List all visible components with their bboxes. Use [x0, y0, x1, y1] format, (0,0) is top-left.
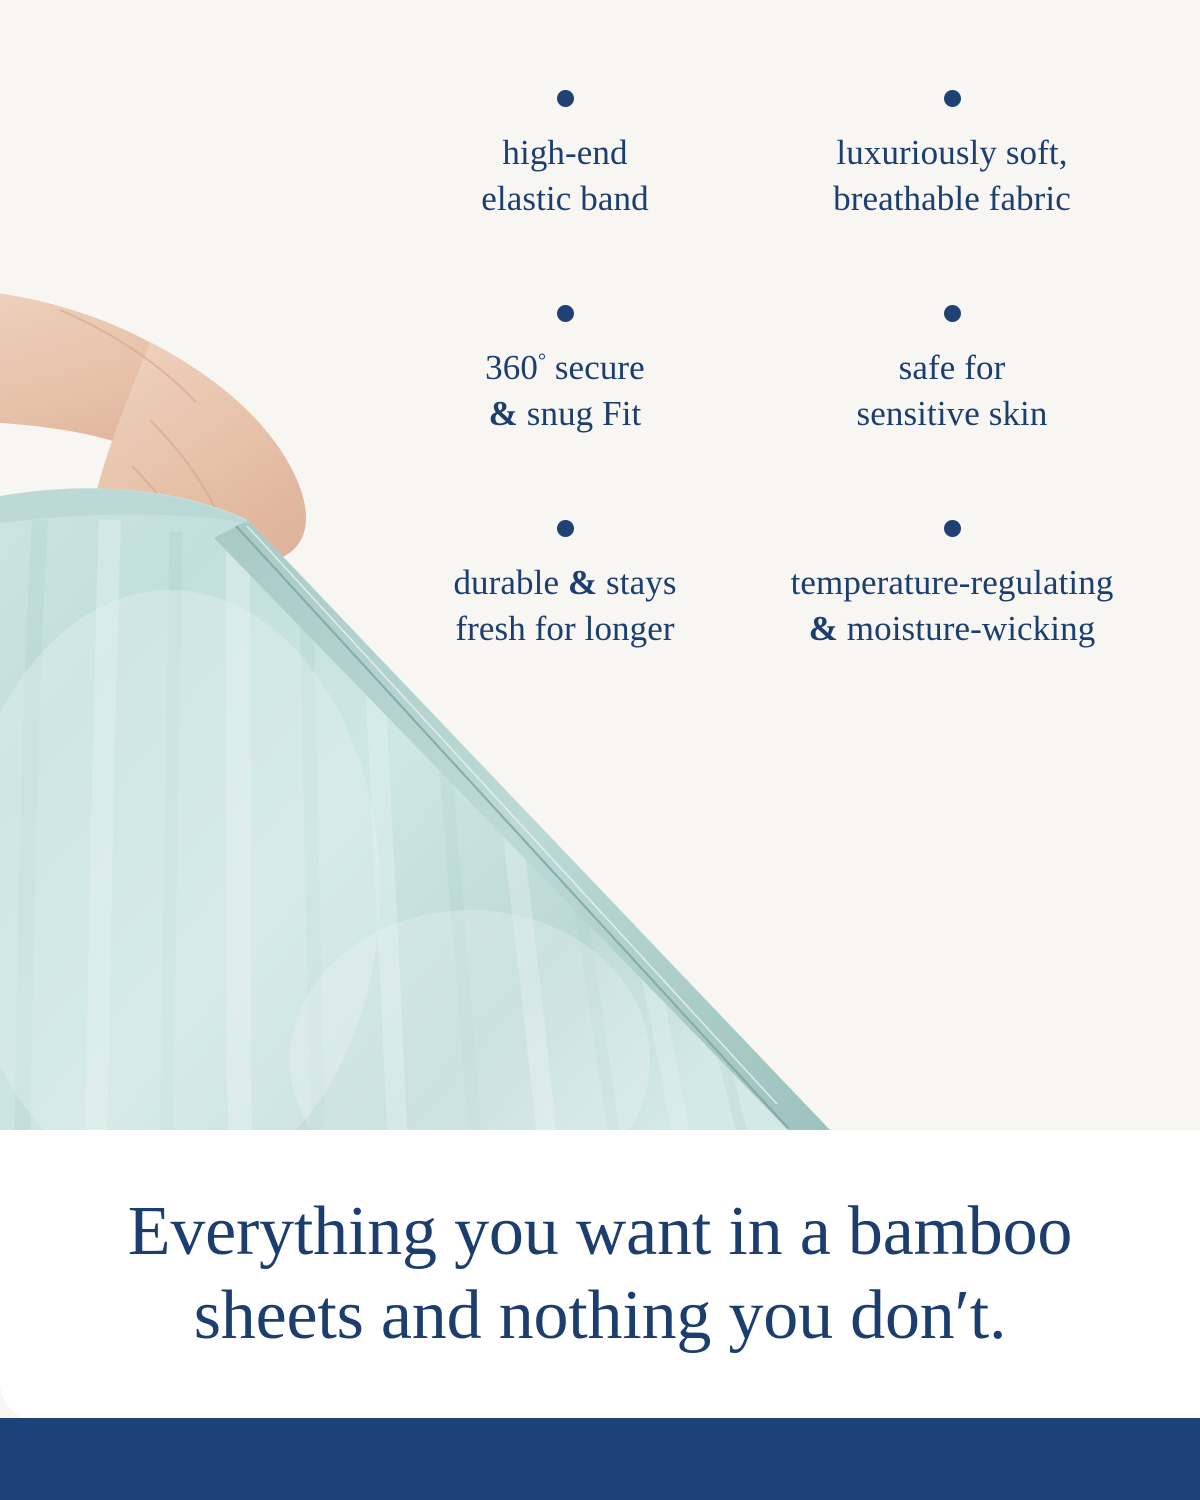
feature-item-360-snug-fit: 360° secure& snug Fit [400, 301, 730, 516]
feature-360-suffix: secure [546, 348, 645, 387]
headline-line-2: sheets and nothing you don′t. [194, 1277, 1007, 1354]
headline-line-1: Everything you want in a bamboo [128, 1193, 1072, 1270]
feature-label: safe for sensitive skin [752, 345, 1152, 436]
degree-symbol-icon: ° [538, 350, 546, 372]
feature-label: luxuriously soft, breathable fabric [752, 130, 1152, 221]
feature-item-soft-breathable: luxuriously soft, breathable fabric [752, 86, 1152, 301]
feature-temp-suffix: moisture-wicking [838, 609, 1095, 648]
feature-durable-prefix: durable [453, 563, 568, 602]
feature-label: high-end elastic band [400, 130, 730, 221]
ampersand-glyph: & [809, 609, 838, 648]
dot-bullet-icon [557, 90, 574, 107]
feature-360-line2: snug Fit [518, 394, 641, 433]
dot-bullet-icon [944, 520, 961, 537]
ampersand-glyph: & [489, 394, 518, 433]
ampersand-glyph: & [568, 563, 597, 602]
feature-label: temperature-regulating & moisture-wickin… [752, 560, 1152, 651]
feature-label: 360° secure& snug Fit [400, 345, 730, 436]
page-title: Everything you want in a bamboosheets an… [0, 1190, 1200, 1358]
feature-item-elastic-band: high-end elastic band [400, 86, 730, 301]
dot-bullet-icon [557, 520, 574, 537]
feature-label: durable & stays fresh for longer [400, 560, 730, 651]
dot-bullet-icon [944, 305, 961, 322]
headline-card: Everything you want in a bamboosheets an… [0, 1130, 1200, 1422]
dot-bullet-icon [557, 305, 574, 322]
dot-bullet-icon [944, 90, 961, 107]
feature-item-sensitive-skin: safe for sensitive skin [752, 301, 1152, 516]
feature-item-temperature-regulating: temperature-regulating & moisture-wickin… [752, 516, 1152, 696]
feature-360-value: 360 [485, 348, 538, 387]
footer-band [0, 1418, 1200, 1500]
feature-temp-prefix: temperature-regulating [791, 563, 1114, 602]
feature-item-durable-fresh: durable & stays fresh for longer [400, 516, 730, 696]
product-feature-card: high-end elastic band luxuriously soft, … [0, 0, 1200, 1500]
feature-list: high-end elastic band luxuriously soft, … [400, 86, 1172, 696]
